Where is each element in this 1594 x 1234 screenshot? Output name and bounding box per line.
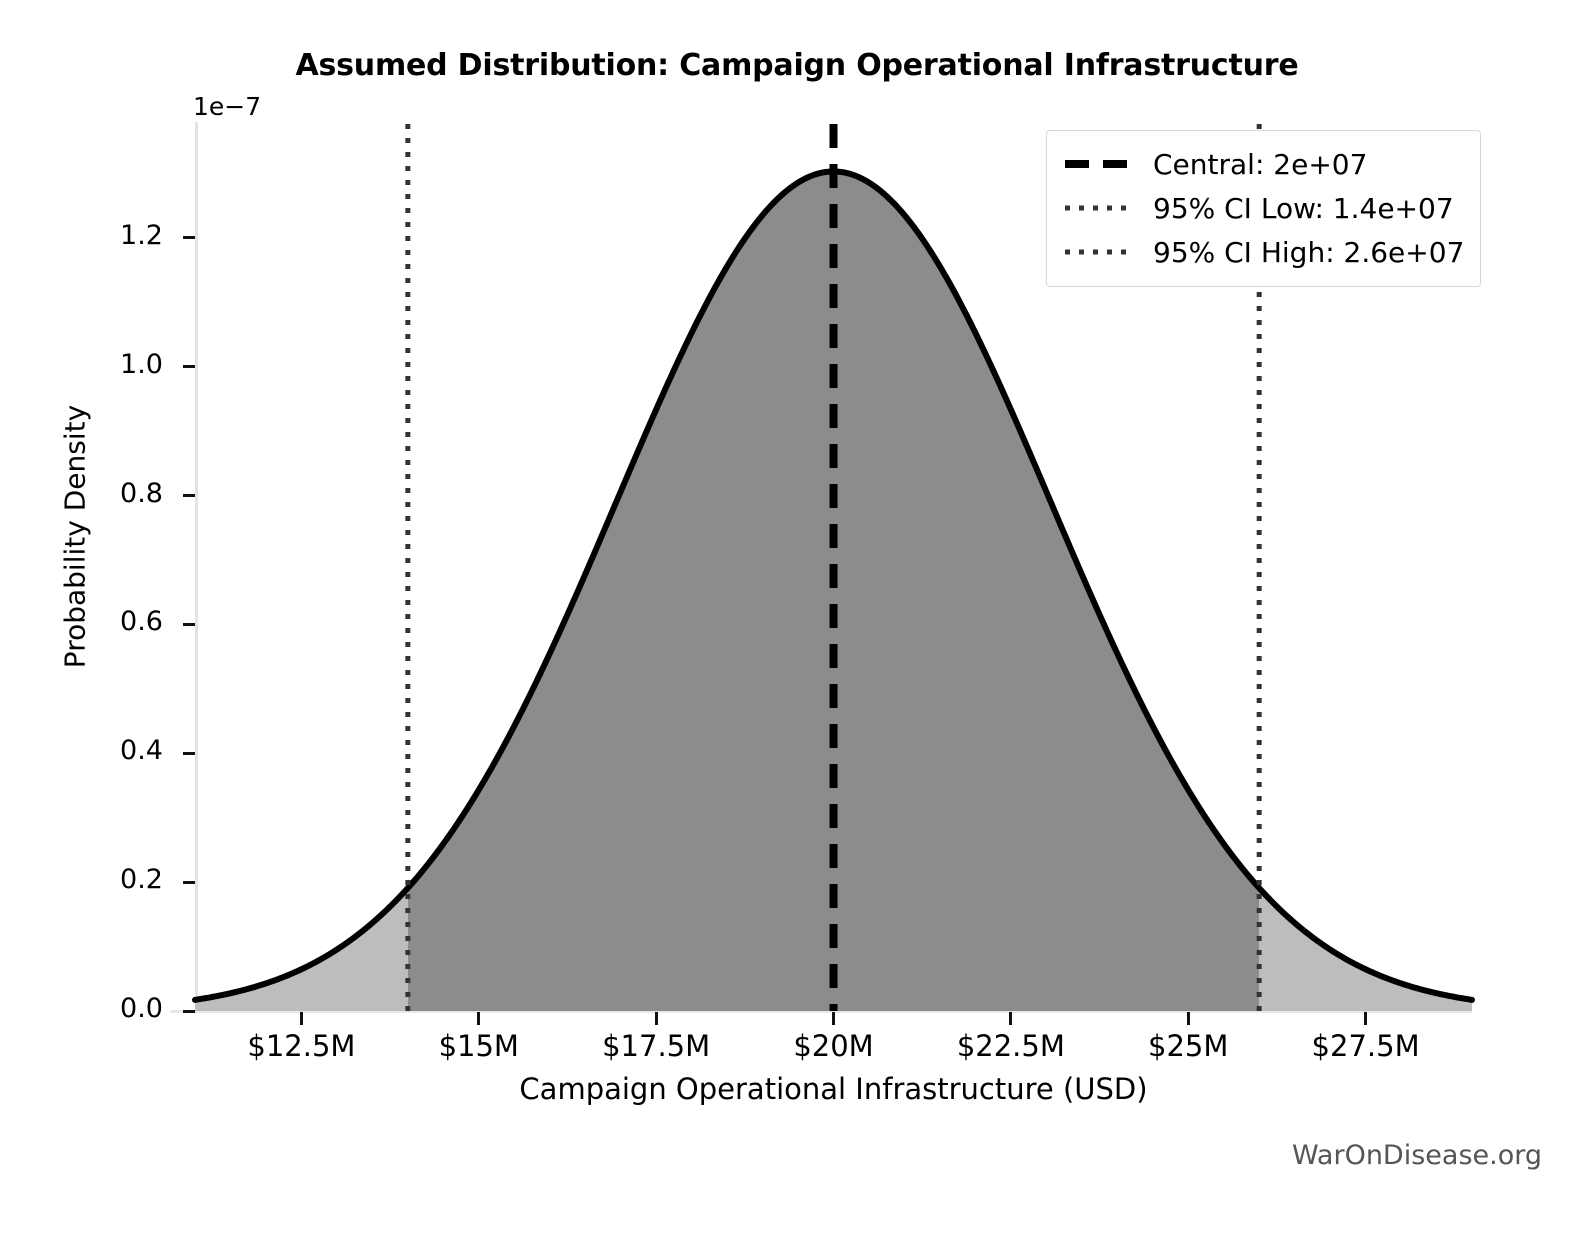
x-tick-mark bbox=[1364, 1012, 1367, 1025]
x-tick-mark bbox=[300, 1012, 303, 1025]
dotted-line-icon bbox=[1063, 241, 1137, 263]
y-tick-mark bbox=[183, 881, 195, 884]
legend[interactable]: Central: 2e+07 95% CI Low: 1.4e+07 95% C… bbox=[1046, 130, 1481, 287]
x-tick-label: $27.5M bbox=[1256, 1029, 1476, 1063]
legend-item-ci-high[interactable]: 95% CI High: 2.6e+07 bbox=[1063, 230, 1464, 274]
y-tick-label: 0.2 bbox=[43, 864, 163, 895]
x-axis-label: Campaign Operational Infrastructure (USD… bbox=[195, 1072, 1472, 1106]
y-tick-mark bbox=[183, 1010, 195, 1013]
y-tick-mark bbox=[183, 494, 195, 497]
page-title: Assumed Distribution: Campaign Operation… bbox=[0, 48, 1594, 83]
legend-item-central[interactable]: Central: 2e+07 bbox=[1063, 142, 1464, 186]
y-tick-mark bbox=[183, 623, 195, 626]
dashed-line-icon bbox=[1063, 153, 1137, 175]
y-tick-mark bbox=[183, 365, 195, 368]
chart-figure: Assumed Distribution: Campaign Operation… bbox=[0, 0, 1594, 1234]
x-tick-mark bbox=[1187, 1012, 1190, 1025]
y-tick-mark bbox=[183, 752, 195, 755]
x-tick-mark bbox=[1009, 1012, 1012, 1025]
y-tick-mark bbox=[183, 236, 195, 239]
legend-label-ci-high: 95% CI High: 2.6e+07 bbox=[1153, 236, 1464, 269]
x-tick-mark bbox=[655, 1012, 658, 1025]
dotted-line-icon bbox=[1063, 197, 1137, 219]
y-axis-offset-text: 1e−7 bbox=[193, 92, 261, 121]
legend-label-central: Central: 2e+07 bbox=[1153, 148, 1367, 181]
x-tick-mark bbox=[832, 1012, 835, 1025]
y-tick-label: 0.0 bbox=[43, 993, 163, 1024]
watermark: WarOnDisease.org bbox=[1292, 1140, 1542, 1171]
x-tick-mark bbox=[477, 1012, 480, 1025]
legend-item-ci-low[interactable]: 95% CI Low: 1.4e+07 bbox=[1063, 186, 1464, 230]
y-axis-label: Probability Density bbox=[59, 237, 92, 837]
legend-label-ci-low: 95% CI Low: 1.4e+07 bbox=[1153, 192, 1454, 225]
